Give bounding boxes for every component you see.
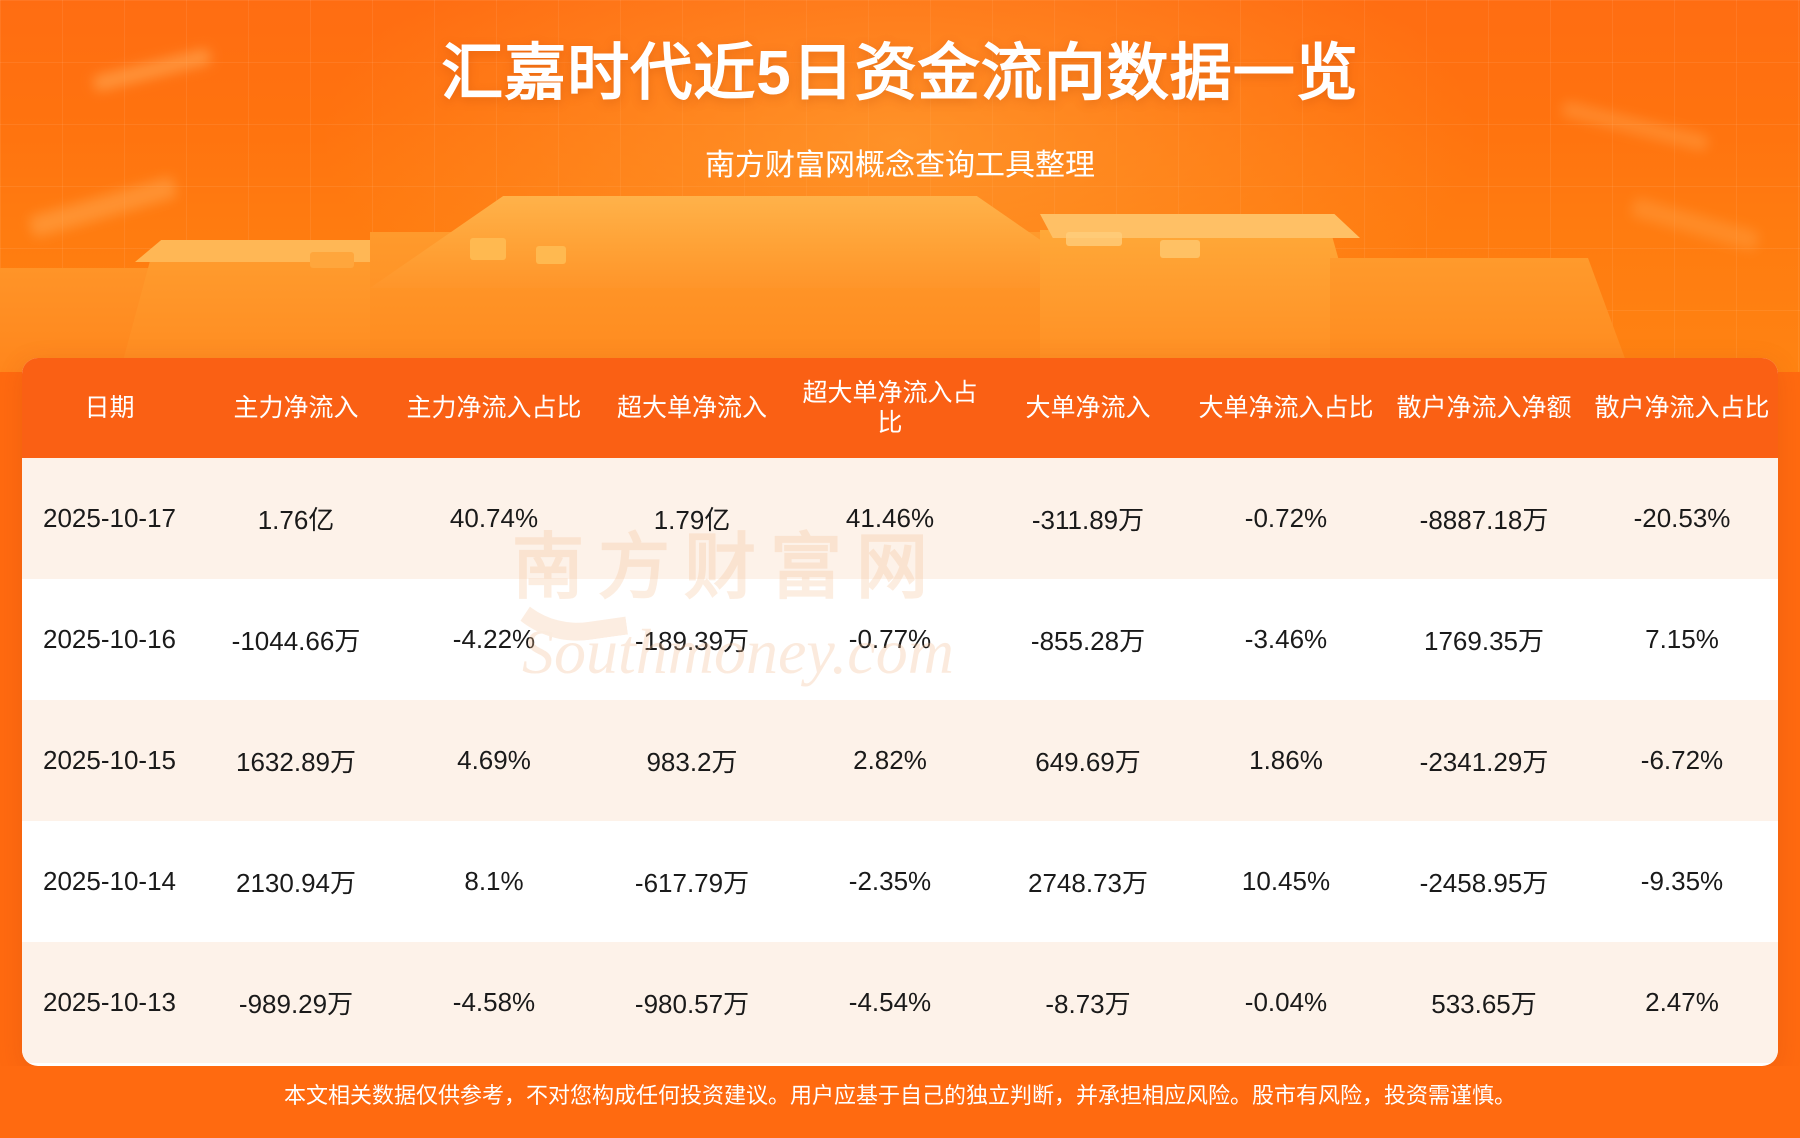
disclaimer-text: 本文相关数据仅供参考，不对您构成任何投资建议。用户应基于自己的独立判断，并承担相… (0, 1078, 1800, 1110)
cell-date: 2025-10-14 (22, 821, 197, 942)
cell-xl-net: 1.79亿 (593, 458, 791, 579)
cell-lg-pct: 10.45% (1187, 821, 1385, 942)
table-body: 2025-10-17 1.76亿 40.74% 1.79亿 41.46% -31… (22, 458, 1778, 1063)
cell-lg-pct: -0.72% (1187, 458, 1385, 579)
cell-retail-net: -2341.29万 (1385, 700, 1583, 821)
cell-main-pct: 40.74% (395, 458, 593, 579)
cell-xl-pct: -0.77% (791, 579, 989, 700)
table-row: 2025-10-14 2130.94万 8.1% -617.79万 -2.35%… (22, 821, 1778, 942)
cell-retail-pct: -6.72% (1583, 700, 1778, 821)
podium-chip-decoration (470, 238, 506, 260)
cell-retail-net: 533.65万 (1385, 942, 1583, 1063)
cell-lg-net: -855.28万 (989, 579, 1187, 700)
cell-xl-net: -189.39万 (593, 579, 791, 700)
cell-date: 2025-10-15 (22, 700, 197, 821)
cell-xl-net: -617.79万 (593, 821, 791, 942)
cell-lg-net: -311.89万 (989, 458, 1187, 579)
column-header-xl-pct[interactable]: 超大单净流入占比 (791, 358, 989, 458)
table-row: 2025-10-16 -1044.66万 -4.22% -189.39万 -0.… (22, 579, 1778, 700)
cell-retail-pct: -20.53% (1583, 458, 1778, 579)
cell-retail-pct: -9.35% (1583, 821, 1778, 942)
cell-retail-pct: 7.15% (1583, 579, 1778, 700)
cell-main-net: 2130.94万 (197, 821, 395, 942)
table-header-row: 日期 主力净流入 主力净流入占比 超大单净流入 超大单净流入占比 大单净流入 大… (22, 358, 1778, 458)
cell-lg-net: -8.73万 (989, 942, 1187, 1063)
cell-xl-pct: -4.54% (791, 942, 989, 1063)
cell-date: 2025-10-17 (22, 458, 197, 579)
column-header-lg-net[interactable]: 大单净流入 (989, 358, 1187, 458)
cell-main-net: 1.76亿 (197, 458, 395, 579)
podium-chip-decoration (536, 246, 566, 264)
column-header-retail-pct[interactable]: 散户净流入占比 (1583, 358, 1778, 458)
podium-block-decoration (135, 240, 397, 262)
fund-flow-table: 日期 主力净流入 主力净流入占比 超大单净流入 超大单净流入占比 大单净流入 大… (22, 358, 1778, 1063)
cell-date: 2025-10-16 (22, 579, 197, 700)
cell-main-pct: -4.22% (395, 579, 593, 700)
podium-chip-decoration (1066, 232, 1122, 246)
fund-flow-table-card: 南方财富网 Southmoney.com 日期 主力净流入 主力净流入占比 超大… (22, 358, 1778, 1066)
column-header-main-net[interactable]: 主力净流入 (197, 358, 395, 458)
cell-date: 2025-10-13 (22, 942, 197, 1063)
podium-chip-decoration (310, 252, 354, 268)
cell-xl-pct: -2.35% (791, 821, 989, 942)
table-row: 2025-10-17 1.76亿 40.74% 1.79亿 41.46% -31… (22, 458, 1778, 579)
podium-block-decoration (120, 252, 390, 372)
column-header-xl-net[interactable]: 超大单净流入 (593, 358, 791, 458)
table-row: 2025-10-13 -989.29万 -4.58% -980.57万 -4.5… (22, 942, 1778, 1063)
cell-lg-net: 2748.73万 (989, 821, 1187, 942)
cell-xl-pct: 2.82% (791, 700, 989, 821)
cell-xl-net: -980.57万 (593, 942, 791, 1063)
column-header-retail-net[interactable]: 散户净流入净额 (1385, 358, 1583, 458)
cell-lg-pct: 1.86% (1187, 700, 1385, 821)
page-subtitle: 南方财富网概念查询工具整理 (0, 140, 1800, 184)
column-header-lg-pct[interactable]: 大单净流入占比 (1187, 358, 1385, 458)
cell-main-pct: 8.1% (395, 821, 593, 942)
cell-retail-net: 1769.35万 (1385, 579, 1583, 700)
cell-xl-pct: 41.46% (791, 458, 989, 579)
cell-retail-net: -8887.18万 (1385, 458, 1583, 579)
cell-main-pct: 4.69% (395, 700, 593, 821)
podium-chip-decoration (1160, 240, 1200, 258)
column-header-main-pct[interactable]: 主力净流入占比 (395, 358, 593, 458)
cell-main-net: -1044.66万 (197, 579, 395, 700)
table-row: 2025-10-15 1632.89万 4.69% 983.2万 2.82% 6… (22, 700, 1778, 821)
cell-main-pct: -4.58% (395, 942, 593, 1063)
table-header: 日期 主力净流入 主力净流入占比 超大单净流入 超大单净流入占比 大单净流入 大… (22, 358, 1778, 458)
cell-lg-pct: -3.46% (1187, 579, 1385, 700)
column-header-date[interactable]: 日期 (22, 358, 197, 458)
cell-retail-pct: 2.47% (1583, 942, 1778, 1063)
cell-main-net: -989.29万 (197, 942, 395, 1063)
cell-lg-pct: -0.04% (1187, 942, 1385, 1063)
cell-xl-net: 983.2万 (593, 700, 791, 821)
podium-block-decoration (1330, 258, 1630, 372)
cell-retail-net: -2458.95万 (1385, 821, 1583, 942)
podium-block-decoration (1040, 230, 1370, 372)
cell-main-net: 1632.89万 (197, 700, 395, 821)
cell-lg-net: 649.69万 (989, 700, 1187, 821)
page-title: 汇嘉时代近5日资金流向数据一览 (0, 40, 1800, 108)
